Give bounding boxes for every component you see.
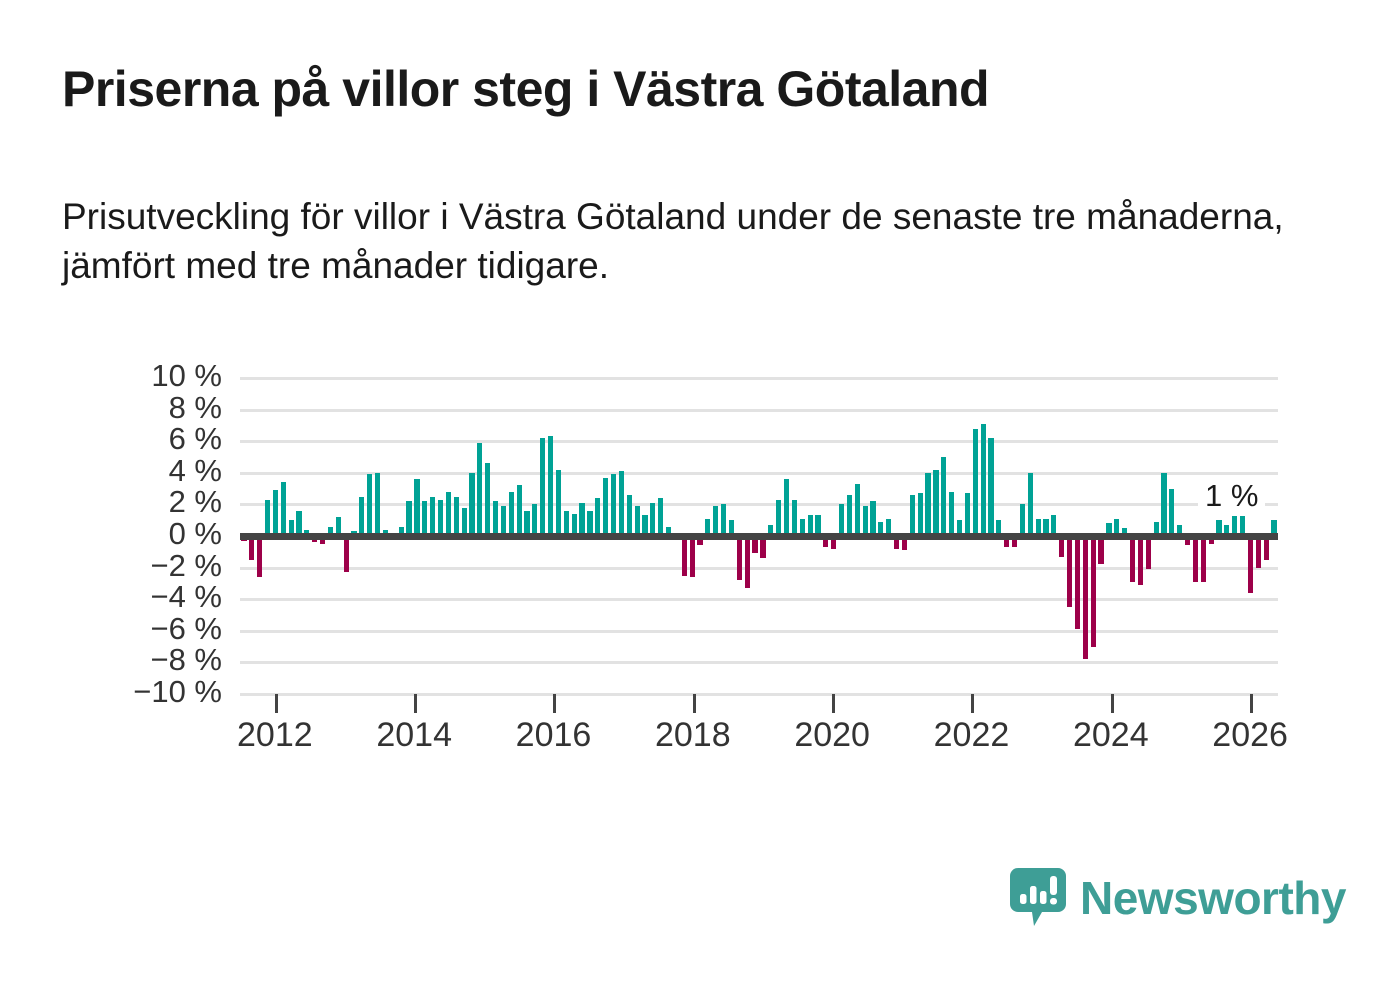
gridline xyxy=(240,409,1278,412)
bar xyxy=(477,443,482,536)
gridline xyxy=(240,567,1278,570)
y-axis-tick-label: −6 % xyxy=(82,611,222,647)
bar xyxy=(973,429,978,536)
bar xyxy=(933,470,938,536)
gridline xyxy=(240,377,1278,380)
x-axis-tick xyxy=(414,694,417,713)
x-axis-tick-label: 2014 xyxy=(376,716,452,755)
plot-area xyxy=(240,378,1278,694)
bar xyxy=(721,504,726,536)
bar xyxy=(485,463,490,536)
bar xyxy=(446,492,451,536)
x-axis-tick-label: 2022 xyxy=(934,716,1010,755)
x-axis-tick xyxy=(275,694,278,713)
gridline xyxy=(240,630,1278,633)
bar xyxy=(650,503,655,536)
bar xyxy=(1098,536,1103,564)
bar xyxy=(910,495,915,536)
gridline xyxy=(240,440,1278,443)
y-axis-tick-label: −2 % xyxy=(82,548,222,584)
y-axis-tick-label: 4 % xyxy=(82,453,222,489)
bar xyxy=(1028,473,1033,536)
bar xyxy=(713,506,718,536)
bar xyxy=(784,479,789,536)
bar xyxy=(540,438,545,536)
x-axis-tick xyxy=(1111,694,1114,713)
x-axis-tick-label: 2024 xyxy=(1073,716,1149,755)
bar xyxy=(265,500,270,536)
bar xyxy=(737,536,742,580)
last-value-annotation: 1 % xyxy=(1198,476,1265,516)
bar xyxy=(627,495,632,536)
y-axis-tick-label: 2 % xyxy=(82,484,222,520)
speech-bubble-bar-chart-icon xyxy=(1010,868,1066,928)
bar xyxy=(375,473,380,536)
y-axis-tick-label: 0 % xyxy=(82,516,222,552)
x-axis-tick-label: 2012 xyxy=(237,716,313,755)
x-axis-tick-label: 2018 xyxy=(655,716,731,755)
bar xyxy=(863,506,868,536)
bar xyxy=(847,495,852,536)
bar xyxy=(941,457,946,536)
bar xyxy=(855,484,860,536)
chart-page: Priserna på villor steg i Västra Götalan… xyxy=(0,0,1382,999)
bar xyxy=(257,536,262,577)
bar xyxy=(501,506,506,536)
bar xyxy=(1020,504,1025,536)
bar xyxy=(619,471,624,536)
bar xyxy=(1138,536,1143,585)
bar xyxy=(988,438,993,536)
bar xyxy=(870,501,875,536)
bar xyxy=(438,500,443,536)
bar xyxy=(509,492,514,536)
bar xyxy=(273,490,278,536)
bar xyxy=(1146,536,1151,569)
bar xyxy=(548,436,553,536)
bar xyxy=(839,504,844,536)
bar xyxy=(430,497,435,537)
x-axis-tick xyxy=(971,694,974,713)
gridline xyxy=(240,503,1278,506)
y-axis-tick-label: −10 % xyxy=(82,674,222,710)
x-axis: 20122014201620182020202220242026 xyxy=(240,694,1278,764)
bar-chart: 10 %8 %6 %4 %2 %0 %−2 %−4 %−6 %−8 %−10 %… xyxy=(0,352,1382,772)
y-axis-tick-label: 10 % xyxy=(82,358,222,394)
bar xyxy=(635,506,640,536)
bar xyxy=(359,497,364,537)
gridline xyxy=(240,472,1278,475)
gridline xyxy=(240,661,1278,664)
bar xyxy=(792,500,797,536)
bar xyxy=(776,500,781,536)
bar xyxy=(745,536,750,588)
bar xyxy=(690,536,695,577)
bar xyxy=(658,498,663,536)
bar xyxy=(1091,536,1096,647)
x-axis-tick xyxy=(832,694,835,713)
y-axis-tick-label: −8 % xyxy=(82,642,222,678)
bar xyxy=(422,501,427,536)
x-axis-tick xyxy=(693,694,696,713)
bar xyxy=(532,504,537,536)
bar xyxy=(965,493,970,536)
x-axis-tick xyxy=(1250,694,1253,713)
bar xyxy=(406,501,411,536)
bar xyxy=(949,492,954,536)
bar xyxy=(1193,536,1198,582)
bar xyxy=(1169,489,1174,536)
newsworthy-logo: Newsworthy xyxy=(1010,868,1346,928)
bar xyxy=(462,508,467,536)
bar xyxy=(414,479,419,536)
page-title: Priserna på villor steg i Västra Götalan… xyxy=(62,62,1322,117)
bar xyxy=(493,501,498,536)
x-axis-tick-label: 2026 xyxy=(1212,716,1288,755)
bar xyxy=(603,478,608,536)
logo-wordmark: Newsworthy xyxy=(1080,871,1346,925)
bar xyxy=(556,470,561,536)
bar xyxy=(1161,473,1166,536)
y-axis-tick-label: 8 % xyxy=(82,390,222,426)
bar xyxy=(925,473,930,536)
page-subtitle: Prisutveckling för villor i Västra Götal… xyxy=(62,192,1352,290)
bar xyxy=(517,485,522,536)
x-axis-tick-label: 2020 xyxy=(794,716,870,755)
bar xyxy=(1201,536,1206,582)
bar xyxy=(281,482,286,536)
x-axis-tick xyxy=(553,694,556,713)
bar xyxy=(918,493,923,536)
y-axis-tick-label: −4 % xyxy=(82,579,222,615)
bar xyxy=(1067,536,1072,607)
bar xyxy=(454,497,459,537)
gridline xyxy=(240,598,1278,601)
y-axis-tick-label: 6 % xyxy=(82,421,222,457)
bar xyxy=(469,473,474,536)
bar xyxy=(981,424,986,536)
bar xyxy=(1248,536,1253,593)
bar xyxy=(367,474,372,536)
bar xyxy=(344,536,349,572)
bar xyxy=(1083,536,1088,659)
bar xyxy=(611,474,616,536)
bar xyxy=(1075,536,1080,629)
x-axis-tick-label: 2016 xyxy=(516,716,592,755)
bar xyxy=(579,503,584,536)
bar xyxy=(1256,536,1261,568)
bar xyxy=(682,536,687,576)
bar xyxy=(595,498,600,536)
zero-line xyxy=(240,533,1278,540)
bar xyxy=(1130,536,1135,582)
